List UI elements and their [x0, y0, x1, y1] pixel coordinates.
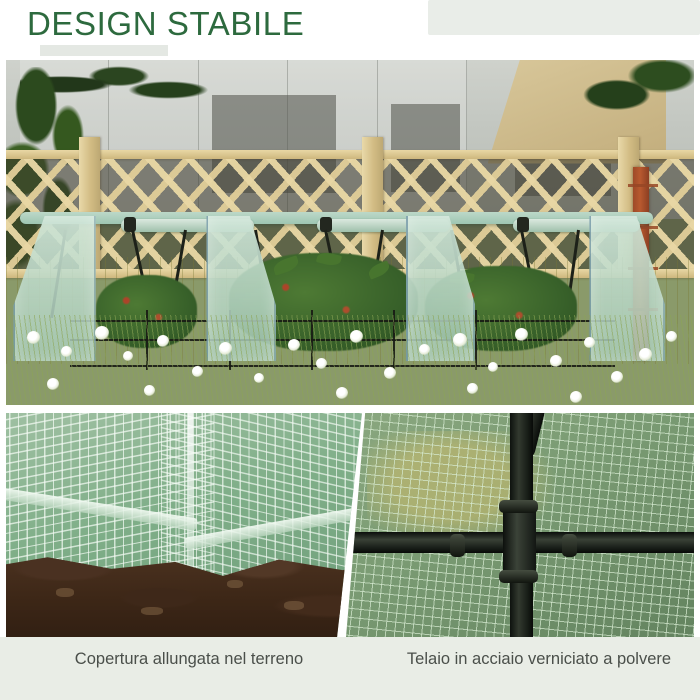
- steel-frame-joint-photo: [346, 413, 694, 637]
- caption-steel-frame: Telaio in acciaio verniciato a polvere: [378, 649, 700, 669]
- steel-t-joint: [503, 503, 536, 579]
- cover-seam: [188, 413, 193, 588]
- hero-image: [6, 60, 694, 405]
- detail-photo-row: [6, 413, 694, 637]
- watermark-block-top-right: [428, 0, 700, 35]
- product-feature-page: DESIGN STABILE: [0, 0, 700, 700]
- caption-cover-in-soil: Copertura allungata nel terreno: [0, 649, 378, 669]
- watermark-block-under-title: [40, 45, 168, 56]
- tree-foliage-right: [556, 60, 694, 129]
- hero-scene: [6, 60, 694, 405]
- page-title: DESIGN STABILE: [27, 4, 304, 44]
- grass-lawn: [6, 315, 694, 405]
- cover-in-soil-photo: [6, 413, 362, 637]
